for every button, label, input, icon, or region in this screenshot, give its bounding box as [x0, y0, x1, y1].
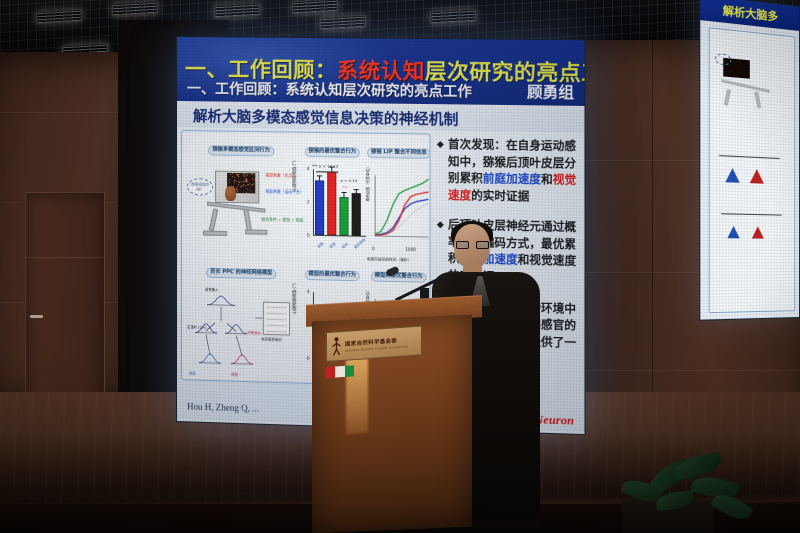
bar — [352, 193, 361, 236]
slide-banner: 一、工作回顾：系统认知层次研究的亮点工作 一、工作回顾：系统认知层次研究的亮点工… — [177, 37, 584, 106]
bar — [327, 171, 336, 235]
secondary-peak-2 — [750, 169, 764, 184]
bar-y-axis — [313, 169, 314, 236]
error-cap — [317, 176, 322, 177]
thought-bubble: 自身运动方向？ — [187, 178, 213, 195]
panel-3-title: 猕猴 LIP 整合不同信息 — [367, 148, 431, 159]
slide-banner-subrow: 一、工作回顾：系统认知层次研究的亮点工作 顾勇组 — [177, 77, 584, 103]
significance-annotation-3: n.s. — [342, 185, 347, 189]
bullet-segment: 的实时证据 — [471, 189, 529, 203]
foundation-logo-icon — [331, 336, 342, 357]
ceiling-light-panel — [214, 3, 260, 19]
ceiling-light-panel — [36, 9, 82, 25]
bar-y-label: 心理物理阈值 (°) — [292, 160, 298, 191]
line-y-label: 累积证据（任意单位） — [366, 165, 371, 201]
model-node-label: 决策读出 — [247, 330, 261, 335]
bar — [339, 197, 348, 236]
podium-flag-stripe — [326, 365, 354, 378]
secondary-peak-1 — [725, 168, 739, 183]
error-bar — [356, 189, 357, 193]
figure-panel-linechart: 猕猴 LIP 整合不同信息 01000刺激开始后的时间（毫秒）累积证据（任意单位… — [367, 140, 431, 261]
bullet-marker-icon: ◆ — [437, 137, 444, 150]
bar-category-label: 前庭 — [316, 241, 325, 249]
secondary-peak-4 — [752, 226, 764, 238]
model-diagram-svg — [185, 280, 298, 381]
model-node-label: 前庭 — [189, 370, 196, 375]
podium-plate-text: 国家自然科学基金委 NATIONAL NATURAL SCIENCE FOUND… — [345, 334, 417, 352]
bullet-item: ◆首次发现：在自身运动感知中，猕猴后顶叶皮层分别累积前庭加速度和视觉速度的实时证… — [437, 137, 581, 207]
bar-y-tick: 4 — [307, 290, 310, 295]
citation-left: Hou H, Zheng Q, ... — [187, 401, 259, 418]
platform-base — [201, 202, 275, 244]
model-node-label: 感觉输入 — [205, 287, 219, 292]
significance-annotation-2: p = 0.14 — [340, 178, 357, 183]
speaker-glasses-icon — [456, 241, 489, 249]
error-bar — [319, 176, 320, 180]
secondary-banner-text: 解析大脑多 — [723, 2, 778, 25]
figure-panel-barchart: 猕猴的最优整合行为 心理物理阈值 (°)024前庭视觉组合最优预测*** p <… — [296, 139, 369, 259]
secondary-display[interactable]: 解析大脑多 — [699, 0, 800, 321]
lectern-podium: 国家自然科学基金委 NATIONAL NATURAL SCIENCE FOUND… — [306, 300, 482, 530]
slide-subtitle-text: 解析大脑多模态感觉信息决策的神经机制 — [193, 105, 458, 130]
panel-5-title: 模型的最优整合行为 — [304, 270, 360, 282]
figure-panel-model: 灵长 PPC 的神经网络模型 感觉输入后顶叶 (LIP)决策读出前庭视觉概率集群… — [185, 259, 298, 380]
secondary-peak-3 — [727, 226, 739, 239]
error-cap — [354, 189, 359, 190]
line-x-tick: 1000 — [405, 247, 415, 252]
panel-6-title: 模型的最优整合行为 — [371, 271, 427, 283]
ceiling-light-panel — [320, 15, 366, 31]
journal-name: Neuron — [534, 412, 574, 429]
significance-annotation: *** p < 1e-10 — [312, 163, 338, 168]
model-node-label: 后顶叶 (LIP) — [187, 324, 206, 329]
bullet-segment: 前庭加速度 — [483, 172, 541, 186]
podium-name-plate: 国家自然科学基金委 NATIONAL NATURAL SCIENCE FOUND… — [326, 325, 422, 362]
model-node-label: 概率集群编码 — [261, 336, 282, 342]
bar-chart-monkey: 心理物理阈值 (°)024前庭视觉组合最优预测*** p < 1e-10p = … — [296, 161, 369, 255]
line-chart-lip: 01000刺激开始后的时间（毫秒）累积证据（任意单位） — [367, 161, 431, 260]
error-cap — [341, 192, 346, 193]
line-chart-svg — [367, 165, 431, 251]
decorative-plant — [596, 448, 776, 533]
figure-panel-setup: 猕猴多模态感觉区间行为 自身运动方向？ 视觉刺激（ — [185, 137, 298, 258]
line-x-tick: 0 — [372, 246, 375, 251]
series-line-组合 — [375, 178, 428, 235]
door-handle-icon — [30, 315, 43, 318]
series-line-最优预测 — [375, 202, 428, 236]
bullet-segment: 和 — [541, 173, 553, 186]
panel-1-title: 猕猴多模态感觉区间行为 — [208, 145, 274, 156]
podium-front-panel: 国家自然科学基金委 NATIONAL NATURAL SCIENCE FOUND… — [312, 315, 472, 533]
bar-y-tick: 2 — [307, 200, 310, 205]
secondary-display-body — [700, 20, 799, 320]
bar-y-label: 心理物理阈值 (°) — [292, 283, 298, 314]
bullet-text: 首次发现：在自身运动感知中，猕猴后顶叶皮层分别累积前庭加速度和视觉速度的实时证据 — [448, 137, 580, 207]
banner-sub-main: 一、工作回顾：系统认知层次研究的亮点工作 — [187, 78, 472, 101]
bar-category-label: 组合 — [340, 241, 349, 249]
banner-group-name: 顾勇组 — [527, 81, 574, 103]
ceiling-light-panel — [112, 1, 158, 17]
network-model-diagram: 感觉输入后顶叶 (LIP)决策读出前庭视觉概率集群编码 — [185, 280, 298, 383]
auditorium-door[interactable] — [25, 192, 105, 406]
bar-y-tick: 4 — [307, 167, 310, 172]
error-bar — [344, 193, 345, 197]
line-x-label: 刺激开始后的时间（毫秒） — [367, 257, 411, 263]
model-node-label: 视觉 — [231, 372, 238, 377]
bar — [315, 180, 324, 235]
ceiling-light-panel — [430, 9, 476, 25]
bar-y-tick: 0 — [307, 233, 310, 238]
setup-diagram: 自身运动方向？ 视觉刺激（光点） 前庭刺激（运动平台） 组合条件 = 视觉 + … — [185, 158, 298, 256]
bar-category-label: 最优预测 — [353, 237, 367, 250]
monkey-subject-icon — [225, 186, 236, 201]
presentation-scene: 一、工作回顾：系统认知层次研究的亮点工作 一、工作回顾：系统认知层次研究的亮点工… — [0, 0, 800, 533]
series-line-前庭 — [375, 198, 428, 236]
bar-category-label: 视觉 — [328, 241, 337, 249]
panel-2-title: 猕猴的最优整合行为 — [304, 147, 360, 158]
panel-4-title: 灵长 PPC 的神经网络模型 — [206, 267, 276, 279]
